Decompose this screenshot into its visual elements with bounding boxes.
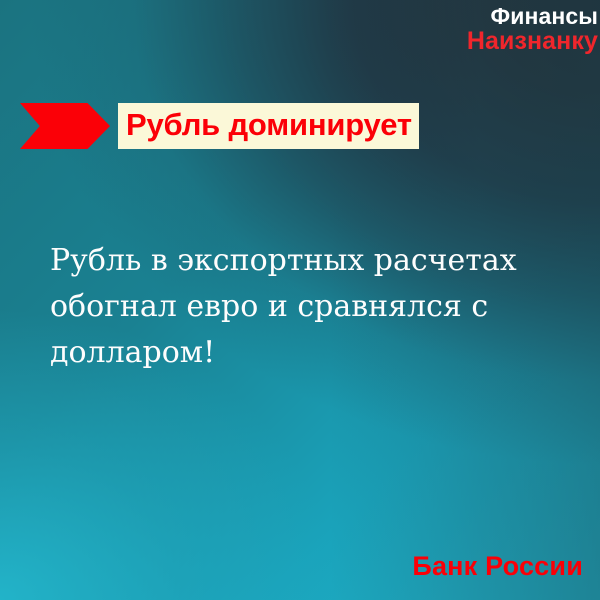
source-attribution: Банк России xyxy=(412,551,583,582)
brand-name-secondary: Наизнанку xyxy=(467,28,598,54)
headline-banner: Рубль доминирует xyxy=(0,100,600,152)
body-text: Рубль в экспортных расчетах обогнал евро… xyxy=(50,238,550,376)
brand-logo: Финансы Наизнанку xyxy=(467,4,598,54)
headline-text: Рубль доминирует xyxy=(126,107,412,143)
news-card-poster: Финансы Наизнанку Рубль доминирует Рубль… xyxy=(0,0,600,600)
headline-highlight: Рубль доминирует xyxy=(118,103,419,149)
red-chevron-banner-icon xyxy=(20,103,110,149)
brand-name-primary: Финансы xyxy=(467,4,598,28)
